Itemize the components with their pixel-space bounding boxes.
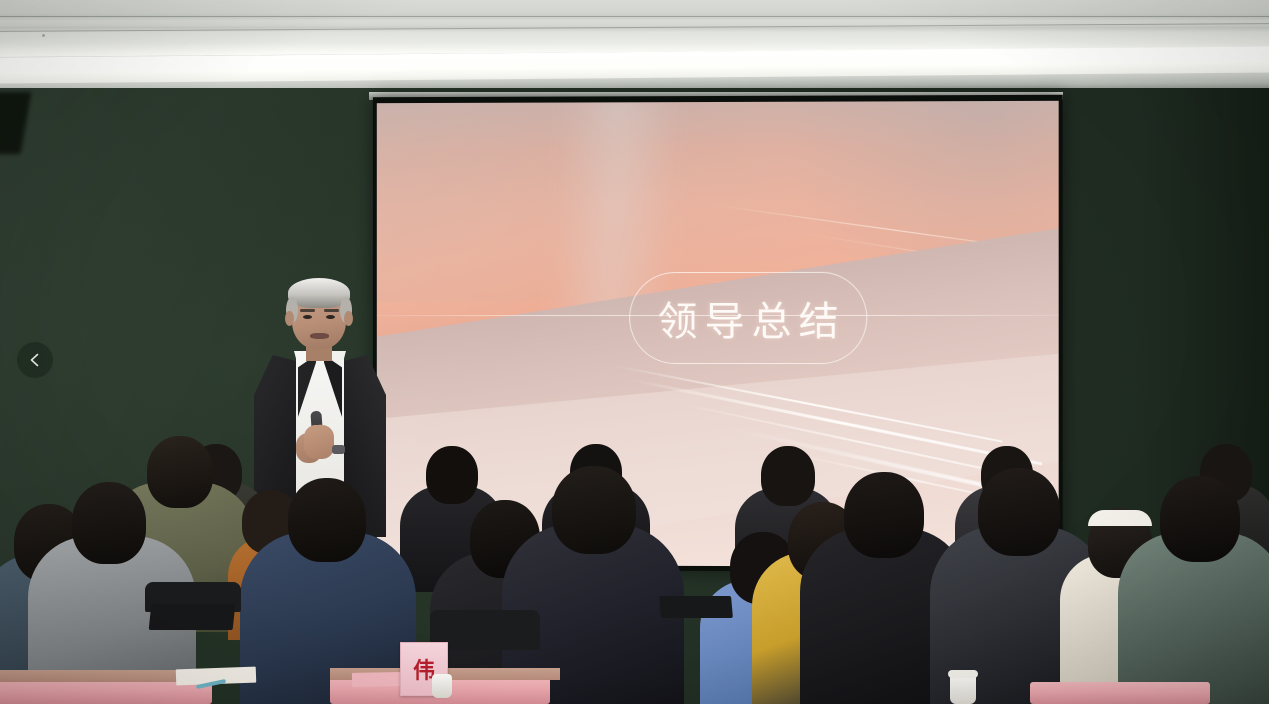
conference-table — [1030, 682, 1210, 704]
cup-lid — [948, 670, 978, 678]
chevron-left-icon — [27, 352, 43, 368]
screenshot-root: 领导总结 — [0, 0, 1269, 704]
slide-title: 领导总结 — [651, 289, 846, 347]
presenter-eye — [326, 315, 335, 319]
ceiling-seam — [0, 23, 1269, 32]
paper-cup — [432, 674, 452, 698]
ceiling-seam — [0, 16, 1269, 17]
presenter-ear — [344, 311, 353, 326]
presenter-ear — [285, 311, 294, 326]
previous-button[interactable] — [17, 342, 53, 378]
audience: 伟 — [0, 440, 1269, 704]
presenter-brow — [324, 309, 339, 312]
headband — [1088, 510, 1152, 526]
presenter-mouth — [310, 333, 329, 339]
paper-cup — [950, 674, 976, 704]
presenter-brow — [300, 309, 315, 312]
ceiling-fixture-dot — [42, 34, 45, 37]
slide-title-pill: 领导总结 — [629, 272, 867, 364]
presenter-eye — [303, 315, 312, 319]
laptop — [659, 596, 733, 618]
laptop — [149, 604, 236, 630]
